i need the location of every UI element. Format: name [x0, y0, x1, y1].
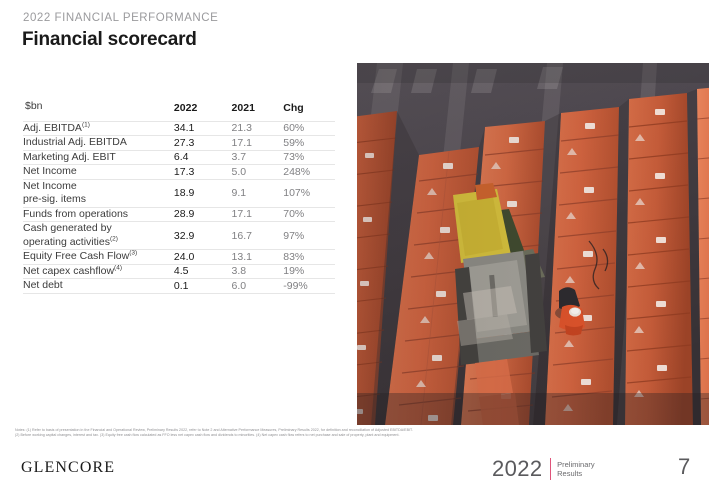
row-label: Net Incomepre-sig. items — [23, 179, 174, 207]
row-value-2022: 6.4 — [174, 150, 232, 165]
table-row: Net capex cashflow(4)4.53.819% — [23, 264, 335, 279]
table-row: Net debt0.16.0-99% — [23, 279, 335, 294]
table-row: Adj. EBITDA(1)34.121.360% — [23, 121, 335, 136]
row-value-2022: 27.3 — [174, 136, 232, 151]
row-value-2021: 9.1 — [232, 179, 284, 207]
table-header-2022: 2022 — [174, 96, 232, 121]
row-value-2021: 3.7 — [232, 150, 284, 165]
glencore-logo: GLENCORE — [21, 459, 115, 477]
table-header-unit: $bn — [23, 96, 174, 121]
footnote-marker: (2) — [110, 235, 118, 242]
row-value-2021: 16.7 — [232, 222, 284, 250]
row-value-2021: 21.3 — [232, 121, 284, 136]
footnote-marker: (1) — [82, 121, 90, 128]
footnotes: Notes: (1) Refer to basis of presentatio… — [15, 428, 699, 438]
table-row: Marketing Adj. EBIT6.43.773% — [23, 150, 335, 165]
row-label: Industrial Adj. EBITDA — [23, 136, 174, 151]
row-value-2021: 6.0 — [232, 279, 284, 294]
footnote-marker: (4) — [114, 264, 122, 271]
table-header-chg: Chg — [283, 96, 335, 121]
row-value-chg: 73% — [283, 150, 335, 165]
row-value-2022: 24.0 — [174, 250, 232, 265]
table-row: Equity Free Cash Flow(3)24.013.183% — [23, 250, 335, 265]
row-value-chg: 107% — [283, 179, 335, 207]
row-label: Net capex cashflow(4) — [23, 264, 174, 279]
page-title: Financial scorecard — [22, 29, 197, 51]
row-label: Funds from operations — [23, 207, 174, 222]
row-value-2022: 4.5 — [174, 264, 232, 279]
row-label: Net Income — [23, 165, 174, 180]
slide-eyebrow: 2022 FINANCIAL PERFORMANCE — [23, 12, 218, 24]
row-value-2022: 32.9 — [174, 222, 232, 250]
footer-subtitle-line-1: Preliminary — [557, 460, 595, 469]
row-label: Net debt — [23, 279, 174, 294]
row-value-2022: 17.3 — [174, 165, 232, 180]
row-label: Equity Free Cash Flow(3) — [23, 250, 174, 265]
row-value-2022: 0.1 — [174, 279, 232, 294]
row-label: Cash generated byoperating activities(2) — [23, 222, 174, 250]
footer-year: 2022 — [492, 458, 543, 480]
financial-scorecard-table: $bn20222021ChgAdj. EBITDA(1)34.121.360%I… — [23, 96, 335, 294]
table-row: Net Incomepre-sig. items18.99.1107% — [23, 179, 335, 207]
copper-warehouse-photo — [357, 63, 709, 425]
row-value-2022: 34.1 — [174, 121, 232, 136]
table-row: Net Income17.35.0248% — [23, 165, 335, 180]
row-value-chg: 70% — [283, 207, 335, 222]
row-value-2022: 18.9 — [174, 179, 232, 207]
table-header-row: $bn20222021Chg — [23, 96, 335, 121]
footer-subtitle-line-2: Results — [557, 469, 595, 478]
footnote-marker: (3) — [129, 250, 137, 257]
row-label: Adj. EBITDA(1) — [23, 121, 174, 136]
footer-divider — [550, 458, 552, 480]
row-value-chg: 83% — [283, 250, 335, 265]
row-value-2021: 17.1 — [232, 136, 284, 151]
row-value-chg: -99% — [283, 279, 335, 294]
row-value-chg: 59% — [283, 136, 335, 151]
footer-subtitle: Preliminary Results — [557, 460, 595, 478]
table-row: Funds from operations28.917.170% — [23, 207, 335, 222]
table-header-2021: 2021 — [232, 96, 284, 121]
row-value-2022: 28.9 — [174, 207, 232, 222]
footer-presentation-label: 2022 Preliminary Results — [492, 455, 595, 483]
row-value-2021: 3.8 — [232, 264, 284, 279]
row-value-2021: 17.1 — [232, 207, 284, 222]
row-value-2021: 13.1 — [232, 250, 284, 265]
page-number: 7 — [678, 456, 690, 478]
row-value-chg: 248% — [283, 165, 335, 180]
row-value-2021: 5.0 — [232, 165, 284, 180]
row-value-chg: 60% — [283, 121, 335, 136]
row-value-chg: 19% — [283, 264, 335, 279]
row-label: Marketing Adj. EBIT — [23, 150, 174, 165]
table-row: Industrial Adj. EBITDA27.317.159% — [23, 136, 335, 151]
footnote-line-2: (2) Before working capital changes, inte… — [15, 433, 699, 438]
row-value-chg: 97% — [283, 222, 335, 250]
table-row: Cash generated byoperating activities(2)… — [23, 222, 335, 250]
